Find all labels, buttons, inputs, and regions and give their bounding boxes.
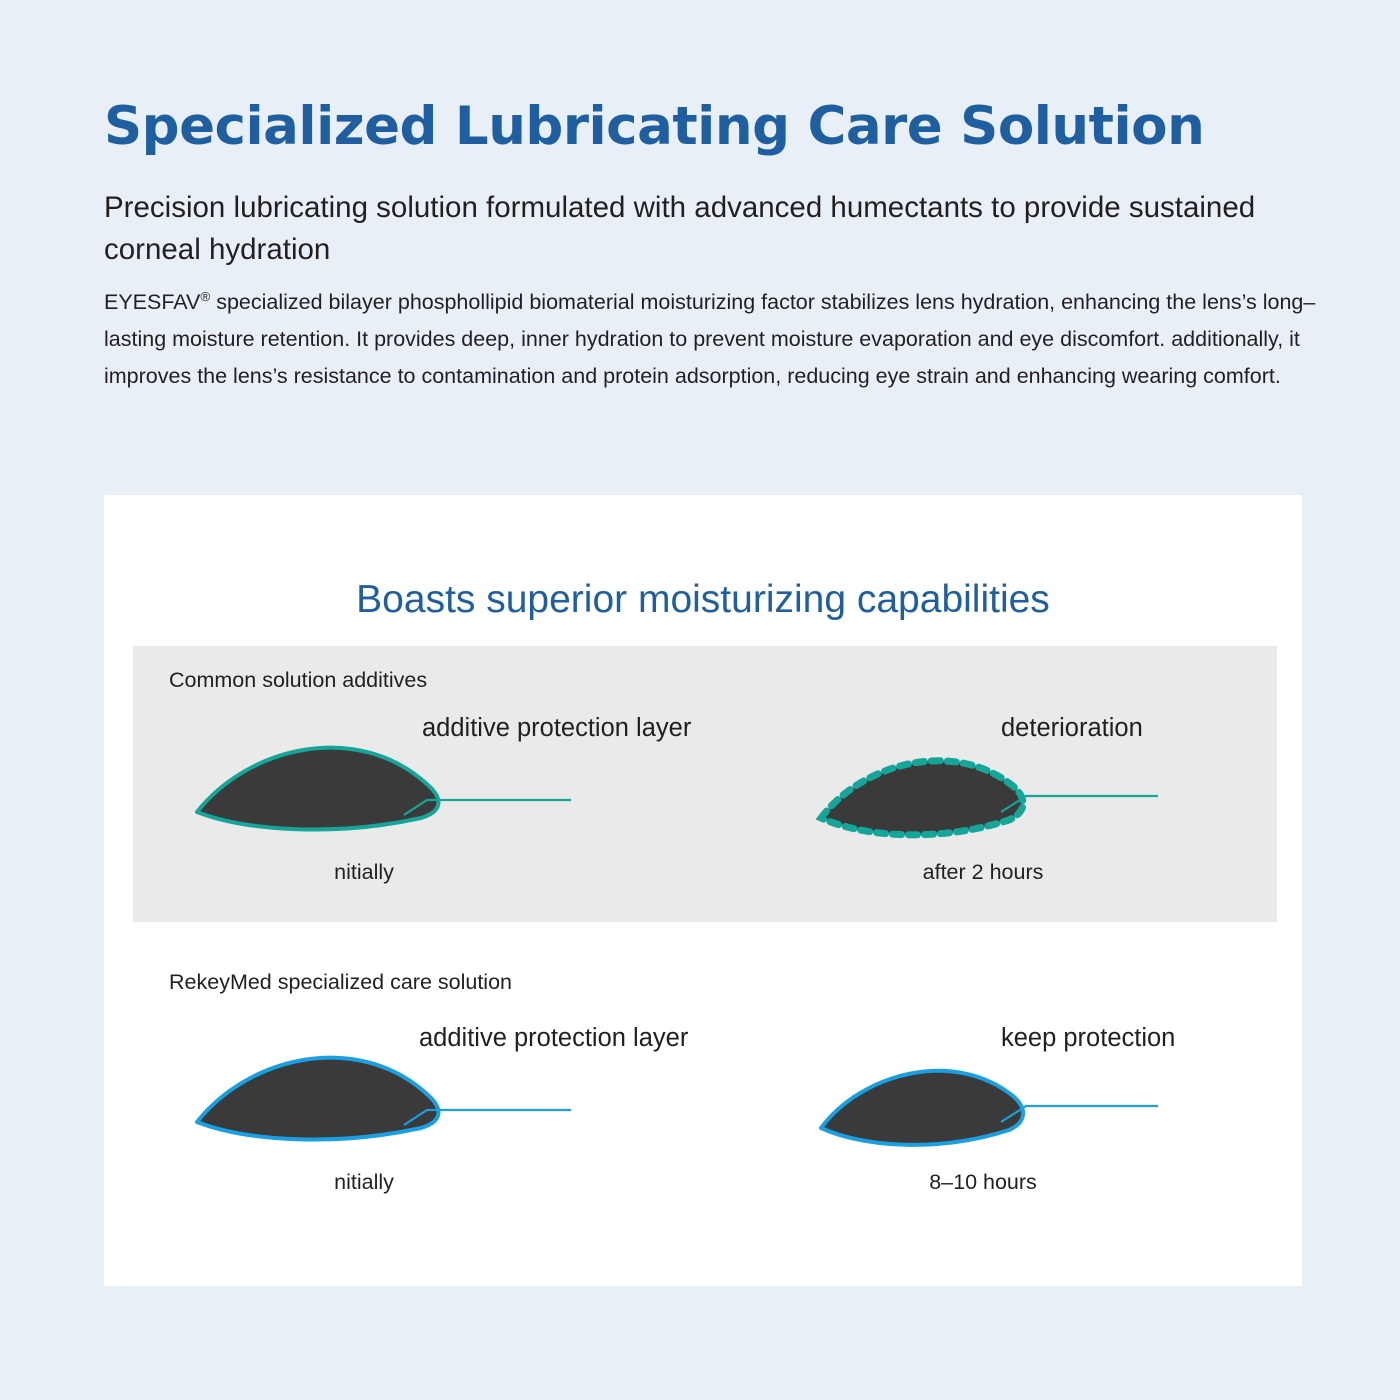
panel-label-common: Common solution additives: [169, 668, 427, 693]
panel-common-solution: Common solution additives additive prote…: [133, 646, 1277, 922]
figure-caption-8-10-hours: 8–10 hours: [833, 1170, 1133, 1195]
callout-label-keep-protection: keep protection: [1001, 1024, 1175, 1053]
page-subtitle: Precision lubricating solution formulate…: [104, 187, 1344, 271]
figure-caption-initial: nitially: [199, 860, 529, 885]
registered-trademark-icon: ®: [200, 288, 210, 303]
lens-body-shape: [197, 1058, 438, 1140]
comparison-card: Boasts superior moisturizing capabilitie…: [104, 495, 1302, 1286]
panel-rekeymed-solution: RekeyMed specialized care solution addit…: [133, 946, 1277, 1266]
figure-common-after-2-hours: deterioration after 2 hours: [813, 708, 1283, 908]
figure-caption-initial: nitially: [199, 1170, 529, 1195]
product-feature-page: Specialized Lubricating Care Solution Pr…: [0, 0, 1400, 1400]
brand-name: EYESFAV: [104, 290, 200, 314]
card-title: Boasts superior moisturizing capabilitie…: [104, 578, 1302, 622]
page-title: Specialized Lubricating Care Solution: [104, 98, 1334, 155]
callout-label-deterioration: deterioration: [1001, 714, 1143, 743]
lens-body-shape: [197, 748, 438, 830]
page-description: EYESFAV® specialized bilayer phosphollip…: [104, 284, 1329, 396]
lens-body-shape: [821, 1071, 1023, 1145]
description-text: specialized bilayer phosphollipid biomat…: [104, 290, 1315, 388]
figure-rekeymed-8-10-hours: keep protection 8–10 hours: [813, 1018, 1283, 1218]
callout-label-additive-layer: additive protection layer: [419, 1024, 688, 1053]
figure-common-initial: additive protection layer nitially: [189, 708, 659, 908]
figure-caption-after-2-hours: after 2 hours: [833, 860, 1133, 885]
callout-label-additive-layer: additive protection layer: [422, 714, 691, 743]
figure-rekeymed-initial: additive protection layer nitially: [189, 1018, 659, 1218]
panel-label-rekeymed: RekeyMed specialized care solution: [169, 970, 512, 995]
